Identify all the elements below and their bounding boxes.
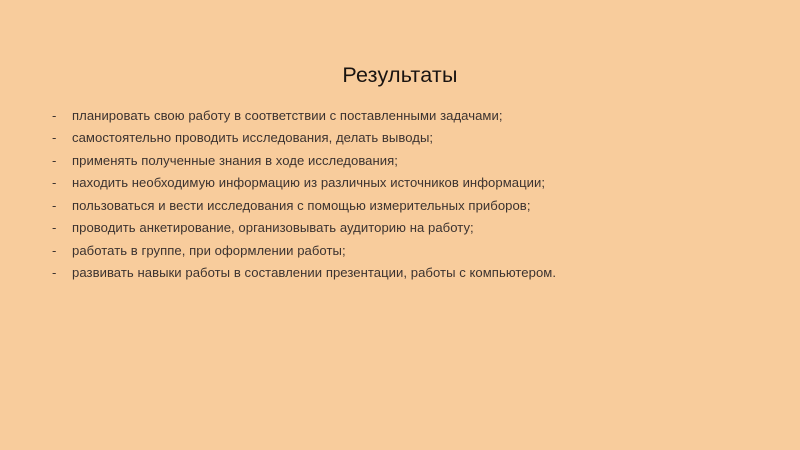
- bullet-dash-marker: -: [52, 240, 72, 262]
- bullet-dash-marker: -: [52, 172, 72, 194]
- bullet-dash-marker: -: [52, 195, 72, 217]
- page-title: Результаты: [0, 62, 800, 89]
- presentation-slide: Результаты - планировать свою работу в с…: [0, 0, 800, 450]
- list-item-label: развивать навыки работы в составлении пр…: [72, 262, 556, 284]
- list-item-label: планировать свою работу в соответствии с…: [72, 105, 503, 127]
- list-item: - работать в группе, при оформлении рабо…: [52, 240, 742, 262]
- list-item: - планировать свою работу в соответствии…: [52, 105, 742, 127]
- list-item: - применять полученные знания в ходе исс…: [52, 150, 742, 172]
- list-item-label: самостоятельно проводить исследования, д…: [72, 127, 433, 149]
- list-item: - находить необходимую информацию из раз…: [52, 172, 742, 194]
- list-item: - проводить анкетирование, организовыват…: [52, 217, 742, 239]
- list-item-label: находить необходимую информацию из разли…: [72, 172, 545, 194]
- list-item-label: проводить анкетирование, организовывать …: [72, 217, 474, 239]
- list-item: - развивать навыки работы в составлении …: [52, 262, 742, 284]
- list-item-label: применять полученные знания в ходе иссле…: [72, 150, 398, 172]
- bullet-dash-marker: -: [52, 150, 72, 172]
- bullet-dash-marker: -: [52, 262, 72, 284]
- list-item-label: пользоваться и вести исследования с помо…: [72, 195, 531, 217]
- bullet-dash-marker: -: [52, 127, 72, 149]
- list-item: - самостоятельно проводить исследования,…: [52, 127, 742, 149]
- bullet-dash-marker: -: [52, 217, 72, 239]
- list-item-label: работать в группе, при оформлении работы…: [72, 240, 346, 262]
- bullet-dash-marker: -: [52, 105, 72, 127]
- results-bullet-list: - планировать свою работу в соответствии…: [52, 105, 742, 285]
- list-item: - пользоваться и вести исследования с по…: [52, 195, 742, 217]
